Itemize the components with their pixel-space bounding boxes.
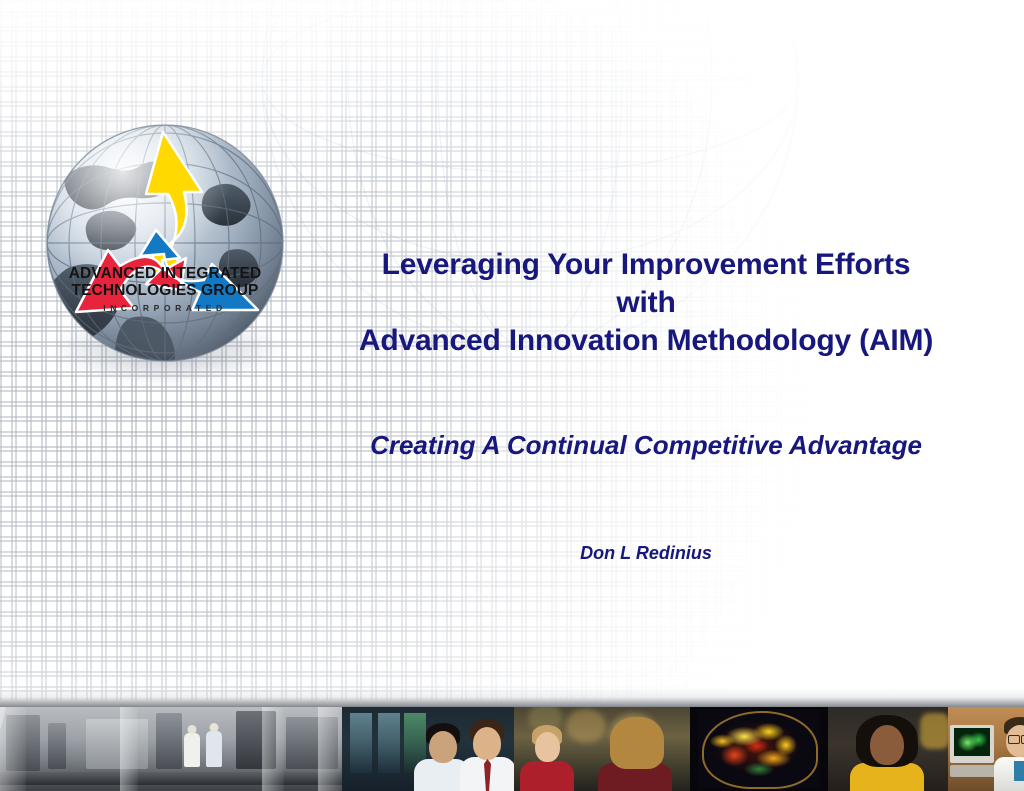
photo-two-businessmen — [342, 707, 514, 791]
company-logo: ADVANCED INTEGRATED TECHNOLOGIES GROUP I… — [34, 118, 296, 386]
photo-woman-yellow — [828, 707, 948, 791]
photo-strip-fade — [0, 688, 1024, 708]
photo-two-women-talking — [514, 707, 690, 791]
title-line-3: Advanced Innovation Methodology (AIM) — [290, 322, 1002, 360]
photo-brain-scan — [690, 707, 828, 791]
photo-factory-floor — [0, 707, 342, 791]
slide-author: Don L Redinius — [290, 543, 1002, 564]
title-line-1: Leveraging Your Improvement Efforts — [290, 246, 1002, 284]
logo-company-line2: TECHNOLOGIES GROUP — [72, 282, 259, 299]
photo-lab-scientist — [948, 707, 1024, 791]
slide-subtitle: Creating A Continual Competitive Advanta… — [290, 430, 1002, 461]
title-line-2: with — [290, 284, 1002, 322]
slide-title: Leveraging Your Improvement Efforts with… — [290, 246, 1002, 360]
presentation-slide: ADVANCED INTEGRATED TECHNOLOGIES GROUP I… — [0, 0, 1024, 791]
globe-shadow — [52, 314, 282, 384]
logo-company-line1: ADVANCED INTEGRATED — [69, 265, 262, 282]
logo-company-line3: INCORPORATED — [103, 303, 227, 313]
photo-strip — [0, 707, 1024, 791]
